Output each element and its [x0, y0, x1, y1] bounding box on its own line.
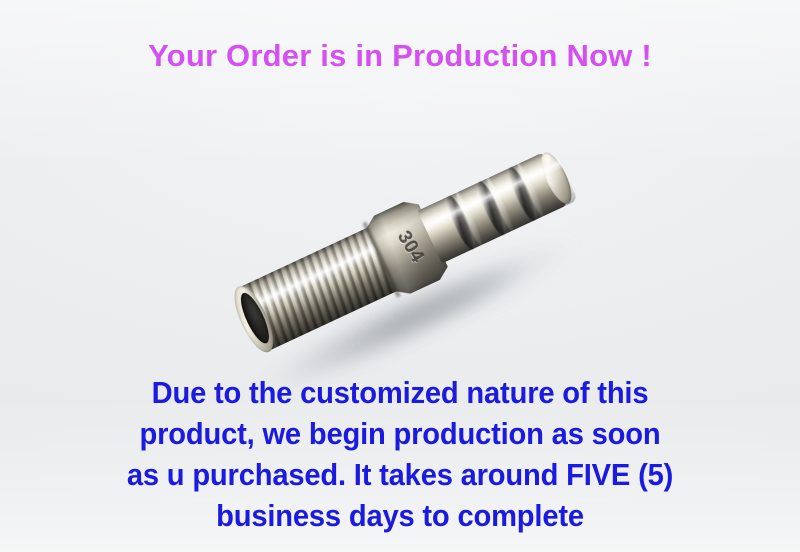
notice-line: product, we begin production as soon — [24, 413, 776, 454]
page-title: Your Order is in Production Now ! — [0, 38, 800, 74]
order-production-banner: Your Order is in Production Now ! 304 — [0, 0, 800, 552]
production-notice-text: Due to the customized nature of this pro… — [0, 372, 800, 536]
notice-line: as u purchased. It takes around FIVE (5) — [24, 454, 776, 495]
product-photo: 304 — [190, 125, 630, 390]
notice-line: Due to the customized nature of this — [24, 372, 776, 413]
notice-line: business days to complete — [24, 495, 776, 536]
